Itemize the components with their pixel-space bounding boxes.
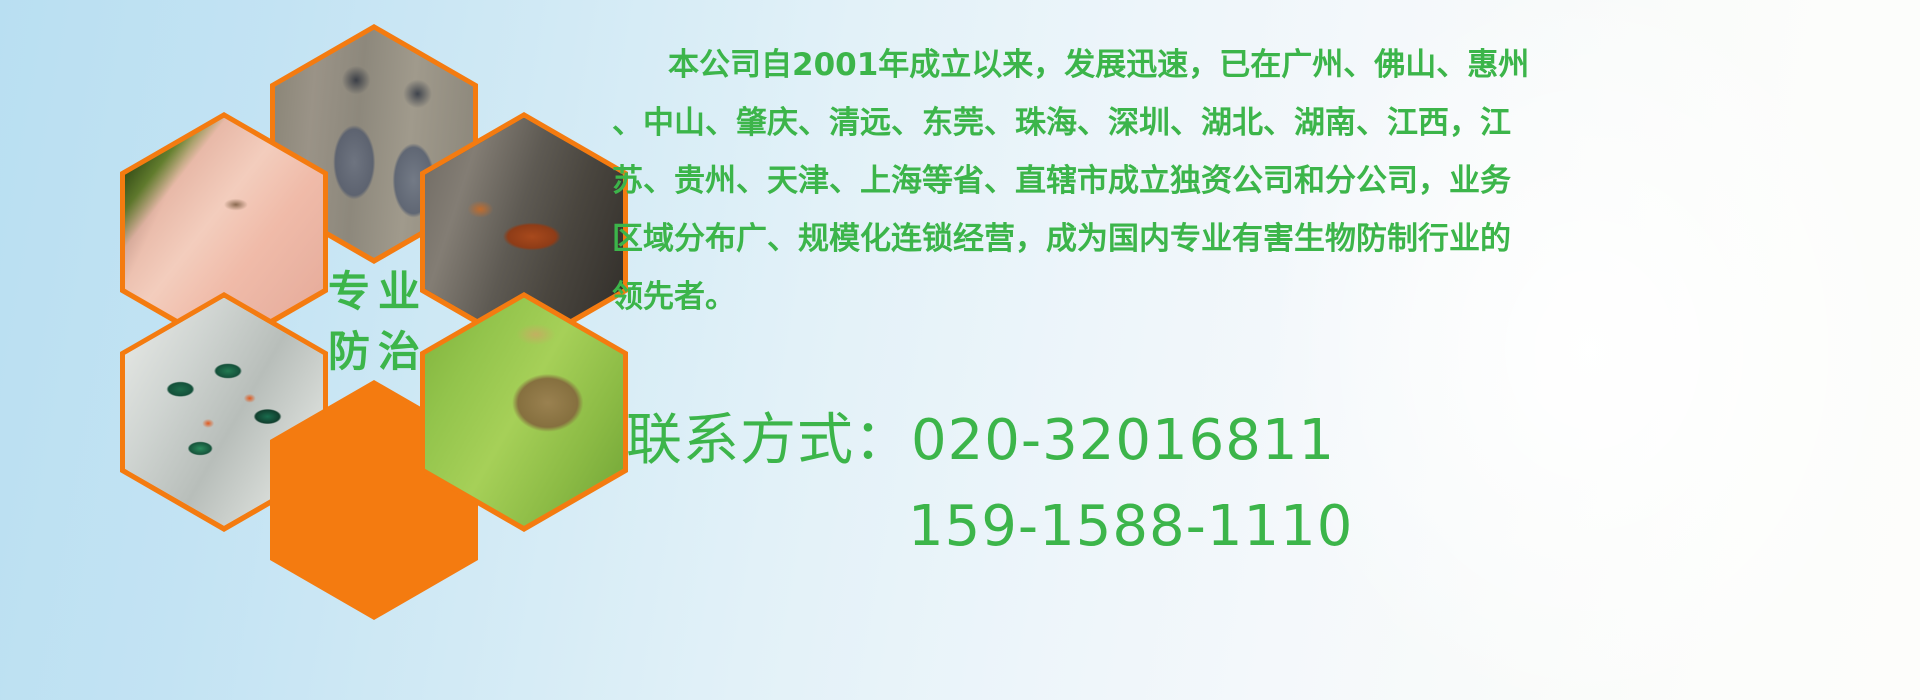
- contact-phone-secondary[interactable]: 159-1588-1110: [626, 484, 1886, 570]
- description-line-4: 区域分布广、规模化连锁经营，成为国内专业有害生物防制行业的: [612, 210, 1862, 268]
- slogan-line-1: 专业: [320, 262, 428, 322]
- contact-phone-primary[interactable]: 联系方式：020-32016811: [626, 398, 1886, 484]
- honeycomb-image-cluster: 专业 防治: [92, 8, 592, 568]
- promo-banner: 专业 防治 本公司自2001年成立以来，发展迅速，已在广州、佛山、惠州 、中山、…: [0, 0, 1920, 700]
- description-line-2: 、中山、肇庆、清远、东莞、珠海、深圳、湖北、湖南、江西，江: [612, 94, 1862, 152]
- description-line-3: 苏、贵州、天津、上海等省、直辖市成立独资公司和分公司，业务: [612, 152, 1862, 210]
- description-line-5: 领先者。: [612, 268, 1862, 326]
- slogan-line-2: 防治: [320, 322, 428, 382]
- contact-block: 联系方式：020-32016811 159-1588-1110: [626, 398, 1886, 570]
- company-description: 本公司自2001年成立以来，发展迅速，已在广州、佛山、惠州 、中山、肇庆、清远、…: [612, 36, 1862, 326]
- description-line-1: 本公司自2001年成立以来，发展迅速，已在广州、佛山、惠州: [612, 36, 1862, 94]
